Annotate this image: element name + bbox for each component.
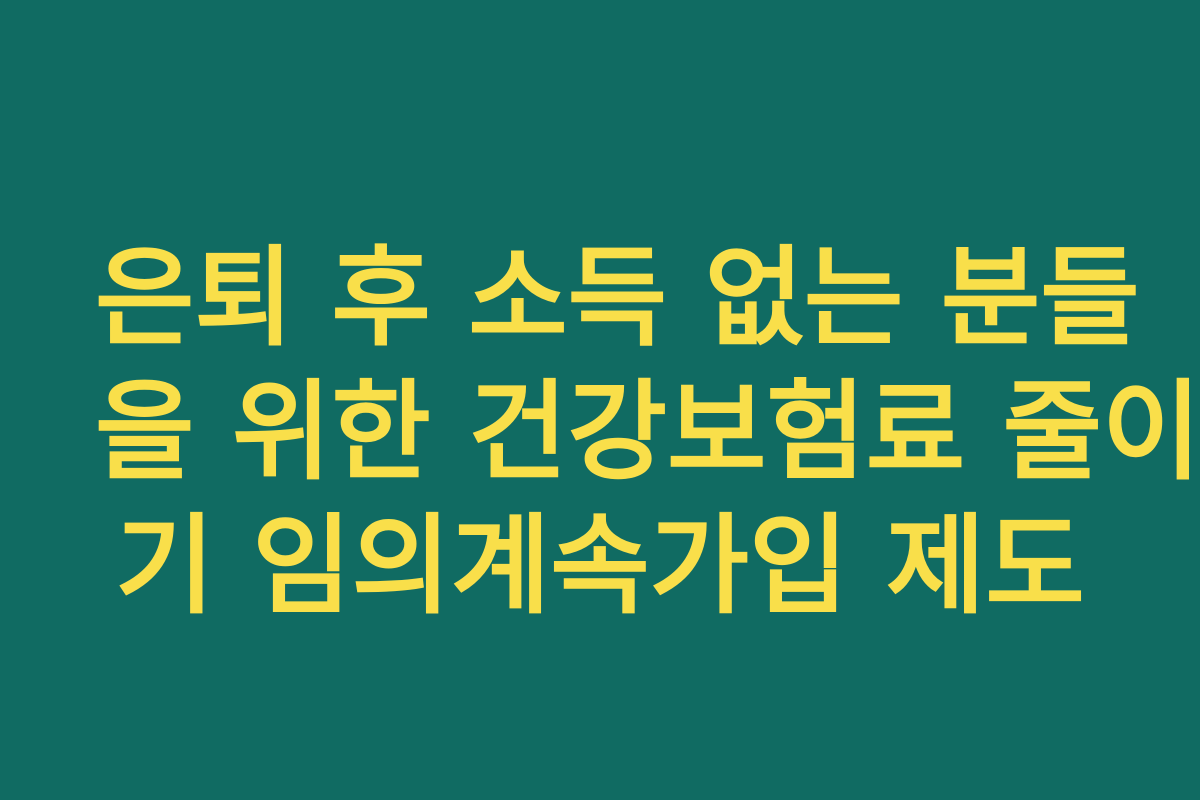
title-block: 은퇴 후 소득 없는 분들 을 위한 건강보험료 줄이 기 임의계속가입 제도	[95, 232, 1105, 634]
title-line-2: 을 위한 건강보험료 줄이	[95, 366, 1105, 500]
title-line-3: 기 임의계속가입 제도	[95, 500, 1105, 634]
title-line-1: 은퇴 후 소득 없는 분들	[95, 232, 1105, 366]
thumbnail-card: 은퇴 후 소득 없는 분들 을 위한 건강보험료 줄이 기 임의계속가입 제도	[0, 0, 1200, 800]
